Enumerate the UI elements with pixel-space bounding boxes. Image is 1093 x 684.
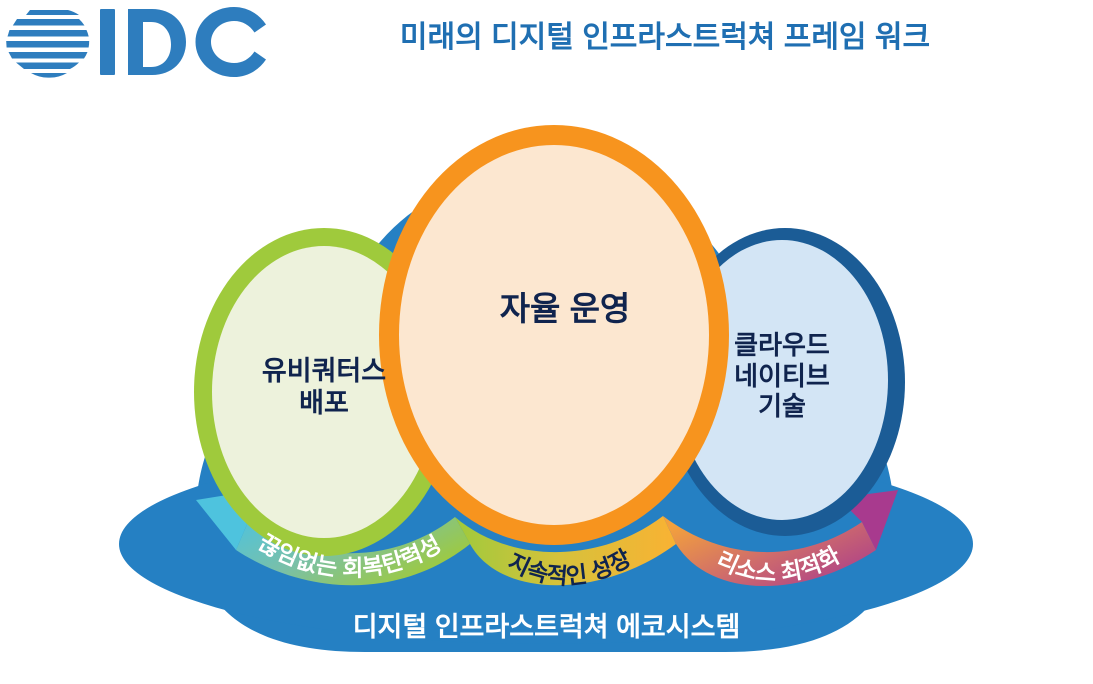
circle-autonomous-operations bbox=[379, 125, 729, 545]
idc-logo bbox=[4, 4, 269, 80]
framework-diagram: 끊임없는 회복탄력성 지속적인 성장 리소스 최적화 유비쿼터스 배포 자율 운… bbox=[0, 92, 1093, 684]
page-title: 미래의 디지털 인프라스트럭쳐 프레임 워크 bbox=[285, 12, 1045, 56]
page-header: 미래의 디지털 인프라스트럭쳐 프레임 워크 bbox=[0, 0, 1093, 92]
idc-wordmark bbox=[100, 7, 266, 77]
circle-center-fill bbox=[399, 145, 709, 525]
idc-globe-icon bbox=[6, 10, 89, 78]
diagram-canvas: 끊임없는 회복탄력성 지속적인 성장 리소스 최적화 bbox=[0, 92, 1093, 684]
diagram-page: 미래의 디지털 인프라스트럭쳐 프레임 워크 bbox=[0, 0, 1093, 684]
idc-logo-icon bbox=[4, 4, 269, 80]
